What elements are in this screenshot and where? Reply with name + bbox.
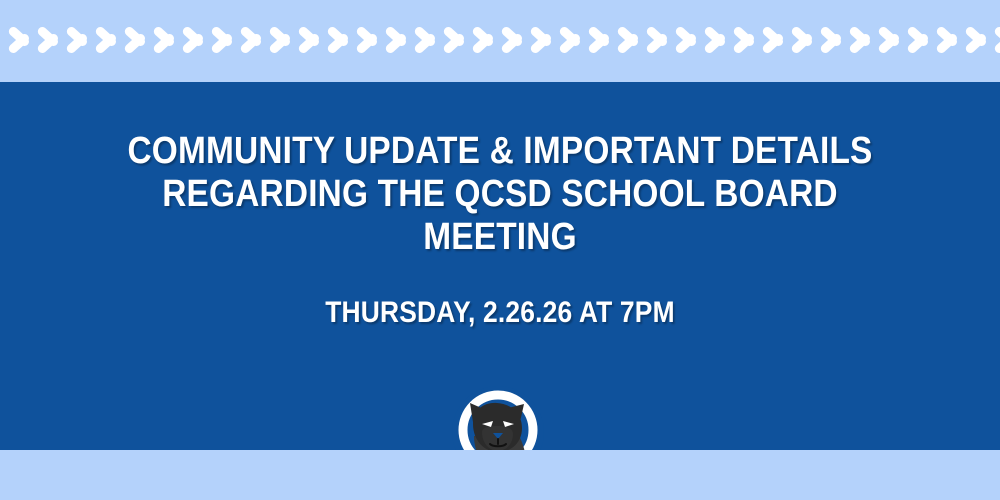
chevron-right-icon bbox=[65, 16, 94, 64]
chevron-right-icon bbox=[384, 16, 413, 64]
event-datetime: THURSDAY, 2.26.26 AT 7PM bbox=[60, 296, 940, 330]
headline-line-3: MEETING bbox=[60, 216, 940, 259]
chevron-right-icon bbox=[326, 16, 355, 64]
chevron-right-icon bbox=[268, 16, 297, 64]
chevron-right-icon bbox=[355, 16, 384, 64]
chevron-right-icon bbox=[152, 16, 181, 64]
chevron-right-icon bbox=[703, 16, 732, 64]
chevron-right-icon bbox=[587, 16, 616, 64]
chevron-right-icon bbox=[616, 16, 645, 64]
chevron-right-icon bbox=[36, 16, 65, 64]
poster-canvas: COMMUNITY UPDATE & IMPORTANT DETAILS REG… bbox=[0, 0, 1000, 500]
chevron-right-icon bbox=[123, 16, 152, 64]
chevron-right-icon bbox=[7, 16, 36, 64]
chevron-right-icon bbox=[500, 16, 529, 64]
chevron-right-icon bbox=[94, 16, 123, 64]
bottom-band bbox=[0, 450, 1000, 500]
chevron-right-icon bbox=[964, 16, 993, 64]
headline-line-1: COMMUNITY UPDATE & IMPORTANT DETAILS bbox=[60, 130, 940, 173]
chevron-right-icon bbox=[442, 16, 471, 64]
page-title: COMMUNITY UPDATE & IMPORTANT DETAILS REG… bbox=[60, 130, 940, 259]
chevron-right-icon bbox=[297, 16, 326, 64]
chevron-right-icon bbox=[529, 16, 558, 64]
chevron-right-icon bbox=[645, 16, 674, 64]
chevron-right-icon bbox=[558, 16, 587, 64]
chevron-right-icon bbox=[732, 16, 761, 64]
headline-line-2: REGARDING THE QCSD SCHOOL BOARD bbox=[60, 173, 940, 216]
chevron-right-icon bbox=[239, 16, 268, 64]
chevron-right-icon bbox=[790, 16, 819, 64]
chevron-right-icon bbox=[210, 16, 239, 64]
chevron-right-icon bbox=[993, 16, 1000, 64]
chevron-right-icon bbox=[761, 16, 790, 64]
chevron-right-icon bbox=[906, 16, 935, 64]
chevron-right-icon bbox=[877, 16, 906, 64]
chevron-right-icon bbox=[848, 16, 877, 64]
top-chevron-band bbox=[0, 0, 1000, 82]
chevron-right-icon bbox=[181, 16, 210, 64]
chevron-row bbox=[0, 16, 1000, 64]
chevron-right-icon bbox=[471, 16, 500, 64]
chevron-right-icon bbox=[819, 16, 848, 64]
chevron-right-icon bbox=[413, 16, 442, 64]
chevron-right-icon bbox=[935, 16, 964, 64]
chevron-right-icon bbox=[674, 16, 703, 64]
chevron-right-icon bbox=[0, 16, 7, 64]
